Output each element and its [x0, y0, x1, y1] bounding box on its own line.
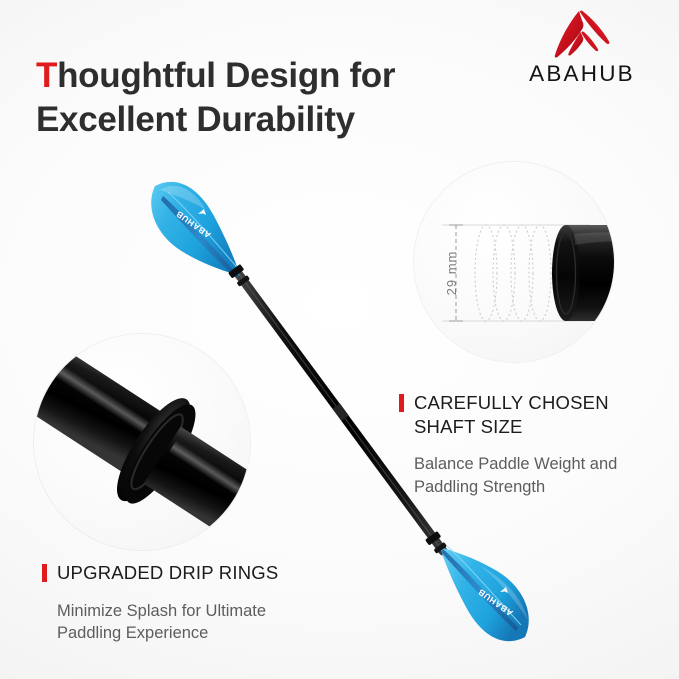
drip-ring-inset [34, 334, 250, 550]
drip-ring-top [228, 264, 251, 287]
brand-wordmark: ABAHUB [507, 61, 657, 87]
blade-logo-top: ABAHUB [174, 209, 213, 240]
callout-upgraded-drip-rings: UPGRADED DRIP RINGS Minimize Splash for … [42, 561, 342, 644]
shaft-diameter-inset: 29 mm [414, 162, 614, 362]
headline-line2: Excellent Durability [36, 100, 355, 139]
callout-body: Minimize Splash for Ultimate Paddling Ex… [57, 600, 342, 645]
svg-text:ABAHUB: ABAHUB [476, 587, 515, 618]
callout-title: UPGRADED DRIP RINGS [57, 561, 278, 585]
shaft-dimension-label: 29 mm [444, 251, 459, 296]
red-marker-bar [399, 394, 404, 412]
callout-title: CAREFULLY CHOSEN SHAFT SIZE [414, 391, 609, 438]
paddle-blade-top: ABAHUB [151, 182, 240, 278]
headline-line1-rest: houghtful Design for [57, 56, 395, 95]
abahub-swoosh-logo-icon [549, 8, 615, 60]
drip-ring-bottom [425, 531, 448, 554]
callout-body: Balance Paddle Weight and Paddling Stren… [414, 453, 667, 498]
page-title: Thoughtful Design for Excellent Durabili… [36, 54, 395, 142]
brand-logo: ABAHUB [507, 8, 657, 87]
callout-carefully-chosen-shaft-size: CAREFULLY CHOSEN SHAFT SIZE Balance Padd… [399, 391, 667, 498]
red-marker-bar [42, 564, 47, 582]
svg-text:ABAHUB: ABAHUB [174, 209, 213, 240]
paddle-blade-bottom: ABAHUB [440, 546, 529, 641]
drip-ring-photo-illustration [34, 334, 250, 550]
shaft-cross-section-diagram: 29 mm [414, 162, 614, 362]
callout-head: UPGRADED DRIP RINGS [42, 561, 342, 585]
callout-head: CAREFULLY CHOSEN SHAFT SIZE [399, 391, 667, 438]
blade-logo-bottom: ABAHUB [476, 587, 515, 618]
infographic-page: ABAHUB Thoughtful Design for Excellent D… [0, 0, 679, 679]
headline-accent-letter: T [36, 56, 57, 95]
